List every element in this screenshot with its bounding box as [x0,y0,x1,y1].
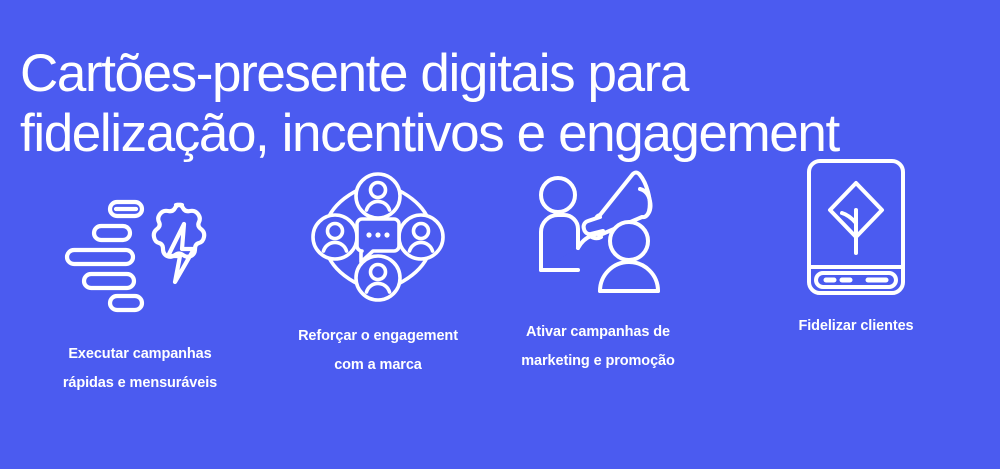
page-title: Cartões-presente digitais para fidelizaç… [20,44,980,164]
community-chat-icon [312,160,444,302]
loyalty-card-icon [804,160,908,292]
speed-gear-bolt-icon [60,160,220,320]
hero-banner: Cartões-presente digitais para fidelizaç… [0,0,1000,469]
feature-item-engagement-marca: Reforçar o engagement com a marca [272,160,484,380]
feature-item-campanhas-rapidas: Executar campanhas rápidas e mensuráveis [0,160,272,398]
feature-list: Executar campanhas rápidas e mensuráveis [0,160,1000,390]
feature-label: Executar campanhas rápidas e mensuráveis [63,340,217,398]
feature-label: Fidelizar clientes [798,312,913,341]
feature-item-fidelizar-clientes: Fidelizar clientes [712,160,1000,341]
megaphone-announcement-icon [528,160,668,298]
feature-item-marketing-promocao: Ativar campanhas de marketing e promoção [484,160,712,376]
feature-label: Reforçar o engagement com a marca [298,322,458,380]
feature-label: Ativar campanhas de marketing e promoção [521,318,675,376]
